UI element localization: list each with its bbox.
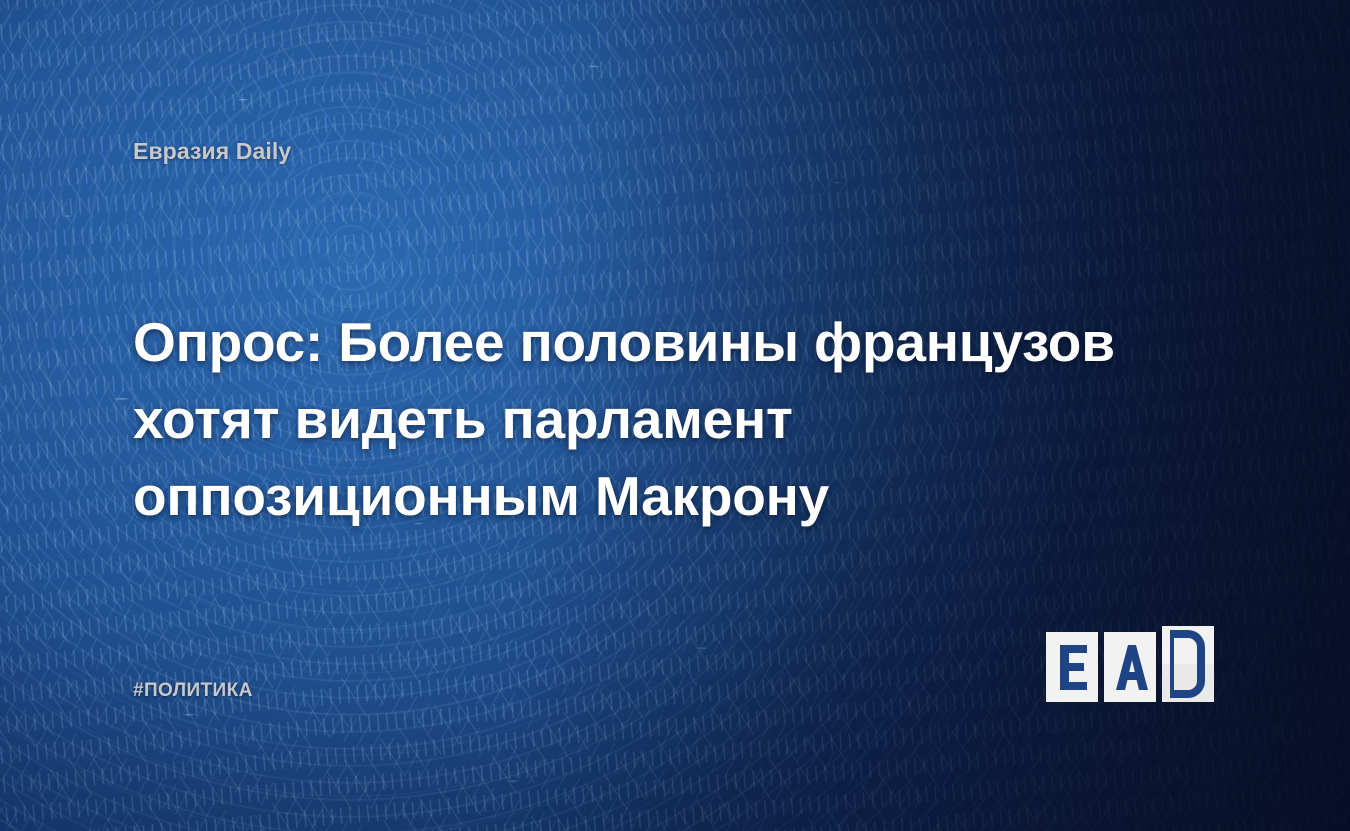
headline-line-3: оппозиционным Макрону [133, 458, 1133, 535]
logo-tile-e [1046, 632, 1098, 702]
logo-tile-d [1162, 626, 1214, 702]
card-content: Евразия Daily Опрос: Более половины фран… [0, 0, 1350, 831]
headline-line-2: хотят видеть парламент [133, 381, 1133, 458]
headline: Опрос: Более половины французов хотят ви… [133, 304, 1133, 535]
eadaily-logo [1046, 626, 1224, 702]
logo-tile-a [1104, 632, 1156, 702]
category-hashtag: #ПОЛИТИКА [133, 680, 253, 702]
site-logo-text: Евразия Daily [133, 138, 291, 165]
news-share-card: Евразия Daily Опрос: Более половины фран… [0, 0, 1350, 831]
headline-line-1: Опрос: Более половины французов [133, 304, 1133, 381]
